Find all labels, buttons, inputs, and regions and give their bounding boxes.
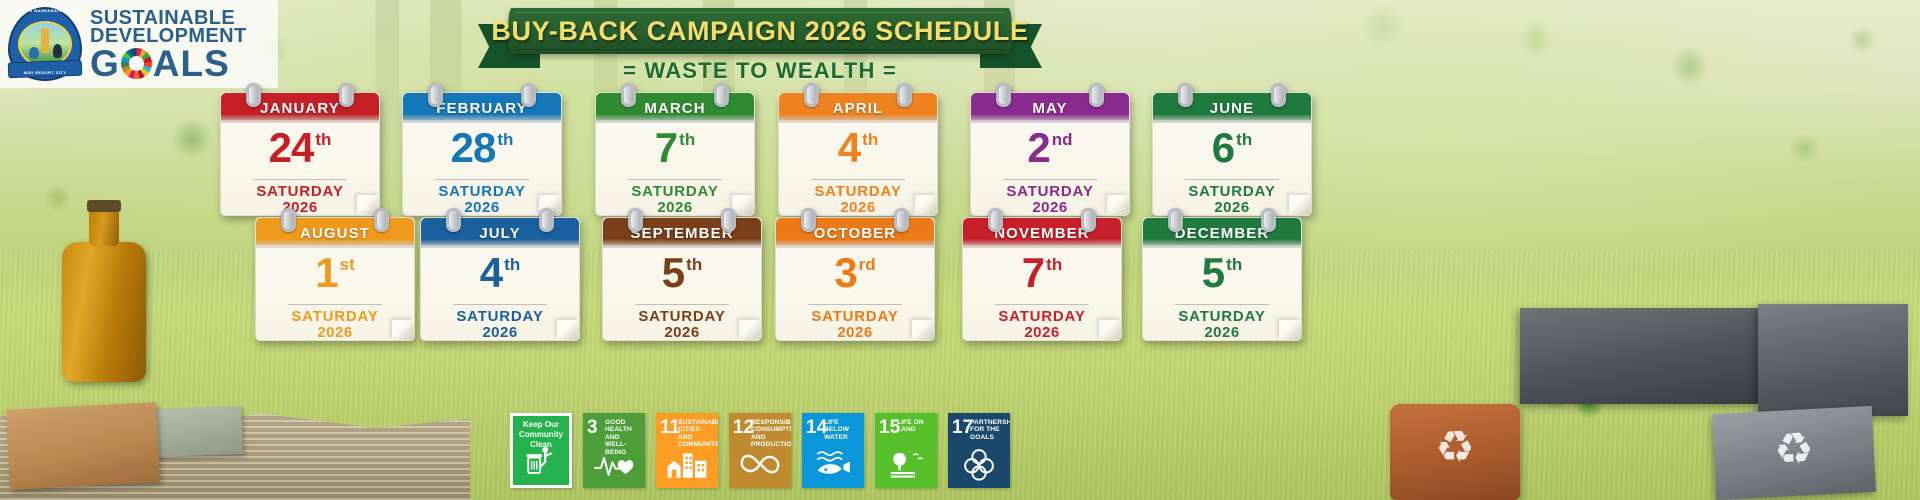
calendar-year-label: 2026	[256, 324, 414, 341]
calendar-day-number: 7	[655, 127, 677, 169]
sdg-badge-label: PARTNERSHIPS FOR THE GOALS	[970, 419, 1007, 441]
recycling-plate-prop: ♻	[1712, 406, 1876, 500]
page-curl	[1289, 195, 1311, 215]
page-curl	[739, 320, 761, 340]
sdg-goals-right-text: ALS	[153, 46, 230, 81]
recycle-symbol-icon: ♻	[1435, 426, 1474, 470]
calendar-day-row: 5th	[1143, 252, 1301, 300]
binder-ring-right-icon	[521, 83, 536, 107]
calendar-month-header: SEPTEMBER	[603, 218, 761, 248]
calendar-day-number: 5	[1202, 252, 1224, 294]
calendar-day-row: 2nd	[971, 127, 1129, 175]
sdg-badge-goal-12[interactable]: 12RESPONSIBLE CONSUMPTION AND PRODUCTION	[729, 413, 791, 488]
calendar-day-row: 4th	[779, 127, 937, 175]
binder-ring-right-icon	[1261, 208, 1276, 232]
binder-ring-left-icon	[804, 83, 819, 107]
calendar-month-header: MAY	[971, 93, 1129, 123]
page-curl	[915, 195, 937, 215]
logo-plate: MAJLIS BANDARAYA MIRI MIRI RESORT CITY S…	[0, 0, 278, 88]
calendar-month-label: FEBRUARY	[436, 100, 528, 117]
calendar-month-header: APRIL	[779, 93, 937, 123]
binder-ring-right-icon	[714, 83, 729, 107]
calendar-day-row: 4th	[421, 252, 579, 300]
calendar-day-suffix: th	[504, 256, 520, 273]
calendar-day-row: 7th	[963, 252, 1121, 300]
calendar-day-number: 24	[269, 127, 314, 169]
calendar-weekday-label: SATURDAY	[1143, 308, 1301, 325]
calendar-divider	[811, 179, 905, 180]
page-curl	[557, 320, 579, 340]
calendar-card-may[interactable]: MAY2ndSATURDAY2026	[970, 92, 1130, 216]
calendar-body: DECEMBER5thSATURDAY2026	[1142, 217, 1302, 341]
calendar-day-number: 5	[662, 252, 684, 294]
binder-ring-left-icon	[246, 83, 261, 107]
calendar-divider	[288, 304, 382, 305]
calendar-card-july[interactable]: JULY4thSATURDAY2026	[420, 217, 580, 341]
calendar-year-label: 2026	[603, 324, 761, 341]
glass-bottle-prop	[62, 242, 146, 382]
binder-ring-right-icon	[1271, 83, 1286, 107]
calendar-month-label: AUGUST	[300, 225, 370, 242]
calendar-card-february[interactable]: FEBRUARY28thSATURDAY2026	[402, 92, 562, 216]
person-throwing-trash-icon	[513, 441, 569, 481]
calendar-body: MAY2ndSATURDAY2026	[970, 92, 1130, 216]
calendar-weekday-label: SATURDAY	[776, 308, 934, 325]
calendar-body: JUNE6thSATURDAY2026	[1152, 92, 1312, 216]
binder-ring-left-icon	[1178, 83, 1193, 107]
metal-bin-secondary-prop	[1758, 304, 1908, 416]
campaign-title: BUY-BACK CAMPAIGN 2026 SCHEDULE	[491, 16, 1028, 47]
binder-ring-right-icon	[721, 208, 736, 232]
calendar-month-header: AUGUST	[256, 218, 414, 248]
calendar-card-september[interactable]: SEPTEMBER5thSATURDAY2026	[602, 217, 762, 341]
crest-bottom-text: MIRI RESORT CITY	[6, 70, 84, 75]
calendar-day-suffix: th	[1046, 256, 1062, 273]
calendar-day-number: 6	[1212, 127, 1234, 169]
calendar-body: NOVEMBER7thSATURDAY2026	[962, 217, 1122, 341]
binder-ring-left-icon	[628, 208, 643, 232]
cardboard-box-prop	[6, 402, 160, 490]
calendar-weekday-label: SATURDAY	[596, 183, 754, 200]
calendar-body: APRIL4thSATURDAY2026	[778, 92, 938, 216]
calendar-card-march[interactable]: MARCH7thSATURDAY2026	[595, 92, 755, 216]
calendar-day-suffix: th	[1226, 256, 1242, 273]
binder-ring-left-icon	[996, 83, 1011, 107]
calendar-divider	[995, 304, 1089, 305]
campaign-subtitle: = WASTE TO WEALTH =	[480, 58, 1040, 84]
calendar-day-number: 2	[1027, 127, 1049, 169]
sdg-color-wheel-icon	[121, 48, 152, 79]
calendar-day-number: 4	[838, 127, 860, 169]
binder-ring-right-icon	[894, 208, 909, 232]
crest-majlis-bandaraya-miri-icon: MAJLIS BANDARAYA MIRI MIRI RESORT CITY	[6, 5, 84, 83]
calendar-month-header: FEBRUARY	[403, 93, 561, 123]
page-curl	[1107, 195, 1129, 215]
binder-ring-left-icon	[621, 83, 636, 107]
calendar-card-october[interactable]: OCTOBER3rdSATURDAY2026	[775, 217, 935, 341]
fish-waves-icon	[802, 444, 864, 484]
calendar-body: SEPTEMBER5thSATURDAY2026	[602, 217, 762, 341]
calendar-month-label: JULY	[479, 225, 520, 242]
interlocking-circles-icon	[948, 444, 1010, 484]
calendar-day-number: 3	[834, 252, 856, 294]
city-buildings-icon	[656, 444, 718, 484]
calendar-day-row: 24th	[221, 127, 379, 175]
sdg-goals-left-text: G	[90, 46, 120, 81]
page-curl	[1279, 320, 1301, 340]
sdg-badge-goal-3[interactable]: 3GOOD HEALTH AND WELL-BEING	[583, 413, 645, 488]
sdg-badge-goal-11[interactable]: 11SUSTAINABLE CITIES AND COMMUNITIES	[656, 413, 718, 488]
recycle-symbol-icon: ♻	[1773, 427, 1815, 473]
calendar-month-label: DECEMBER	[1175, 225, 1270, 242]
calendar-month-label: NOVEMBER	[994, 225, 1089, 242]
calendar-body: FEBRUARY28thSATURDAY2026	[402, 92, 562, 216]
binder-ring-right-icon	[897, 83, 912, 107]
page-curl	[912, 320, 934, 340]
calendar-weekday-label: SATURDAY	[421, 308, 579, 325]
calendar-day-number: 1	[315, 252, 337, 294]
calendar-divider	[808, 304, 902, 305]
calendar-body: MARCH7thSATURDAY2026	[595, 92, 755, 216]
page-curl	[1099, 320, 1121, 340]
sdg-badge-label: LIFE BELOW WATER	[824, 419, 861, 441]
calendar-month-label: MARCH	[644, 100, 705, 117]
calendar-day-suffix: th	[686, 256, 702, 273]
calendar-divider	[1185, 179, 1279, 180]
calendar-divider	[628, 179, 722, 180]
binder-ring-right-icon	[1089, 83, 1104, 107]
calendar-weekday-label: SATURDAY	[221, 183, 379, 200]
binder-ring-right-icon	[1081, 208, 1096, 232]
calendar-month-label: JUNE	[1210, 100, 1254, 117]
calendar-day-row: 6th	[1153, 127, 1311, 175]
calendar-day-number: 7	[1022, 252, 1044, 294]
calendar-divider	[1003, 179, 1097, 180]
sdg-badge-goal-15[interactable]: 15LIFE ON LAND	[875, 413, 937, 488]
calendar-day-suffix: th	[315, 131, 331, 148]
binder-ring-left-icon	[988, 208, 1003, 232]
calendar-day-row: 1st	[256, 252, 414, 300]
calendar-divider	[635, 304, 729, 305]
calendar-year-label: 2026	[221, 199, 379, 216]
calendar-day-suffix: st	[340, 256, 355, 273]
calendar-card-december[interactable]: DECEMBER5thSATURDAY2026	[1142, 217, 1302, 341]
sdg-badge-goal-14[interactable]: 14LIFE BELOW WATER	[802, 413, 864, 488]
calendar-day-row: 28th	[403, 127, 561, 175]
calendar-divider	[453, 304, 547, 305]
calendar-weekday-label: SATURDAY	[603, 308, 761, 325]
binder-ring-left-icon	[281, 208, 296, 232]
calendar-month-header: JANUARY	[221, 93, 379, 123]
calendar-weekday-label: SATURDAY	[779, 183, 937, 200]
calendar-month-label: JANUARY	[260, 100, 340, 117]
calendar-month-header: NOVEMBER	[963, 218, 1121, 248]
calendar-body: OCTOBER3rdSATURDAY2026	[775, 217, 935, 341]
calendar-weekday-label: SATURDAY	[963, 308, 1121, 325]
title-ribbon: BUY-BACK CAMPAIGN 2026 SCHEDULE	[480, 4, 1040, 60]
calendar-day-row: 7th	[596, 127, 754, 175]
calendar-weekday-label: SATURDAY	[1153, 183, 1311, 200]
calendar-month-label: OCTOBER	[814, 225, 896, 242]
calendar-card-november[interactable]: NOVEMBER7thSATURDAY2026	[962, 217, 1122, 341]
calendar-body: JANUARY24thSATURDAY2026	[220, 92, 380, 216]
infinity-icon	[729, 444, 791, 484]
calendar-day-number: 28	[451, 127, 496, 169]
sdg-wordmark: SUSTAINABLE DEVELOPMENT G ALS	[90, 7, 247, 81]
calendar-day-suffix: th	[862, 131, 878, 148]
calendar-weekday-label: SATURDAY	[403, 183, 561, 200]
calendar-day-suffix: th	[497, 131, 513, 148]
calendar-divider	[253, 179, 347, 180]
calendar-weekday-label: SATURDAY	[971, 183, 1129, 200]
binder-ring-right-icon	[339, 83, 354, 107]
calendar-body: AUGUST1stSATURDAY2026	[255, 217, 415, 341]
calendar-year-label: 2026	[421, 324, 579, 341]
calendar-day-suffix: nd	[1052, 131, 1073, 148]
ribbon-band: BUY-BACK CAMPAIGN 2026 SCHEDULE	[508, 8, 1012, 54]
calendar-divider	[1175, 304, 1269, 305]
tree-birds-icon	[875, 444, 937, 484]
calendar-month-header: DECEMBER	[1143, 218, 1301, 248]
sdg-badge-number: 3	[587, 418, 598, 437]
calendar-month-header: MARCH	[596, 93, 754, 123]
calendar-card-august[interactable]: AUGUST1stSATURDAY2026	[255, 217, 415, 341]
calendar-card-april[interactable]: APRIL4thSATURDAY2026	[778, 92, 938, 216]
page-curl	[392, 320, 414, 340]
calendar-day-number: 4	[480, 252, 502, 294]
calendar-year-label: 2026	[403, 199, 561, 216]
calendar-month-header: JULY	[421, 218, 579, 248]
sdg-badge-keep-community-clean[interactable]: Keep Our Community Clean	[510, 413, 572, 488]
calendar-card-june[interactable]: JUNE6thSATURDAY2026	[1152, 92, 1312, 216]
sdg-badge-label: LIFE ON LAND	[897, 419, 934, 434]
binder-ring-left-icon	[428, 83, 443, 107]
calendar-day-row: 3rd	[776, 252, 934, 300]
calendar-month-header: OCTOBER	[776, 218, 934, 248]
clay-pot-prop: ♻	[1390, 404, 1520, 500]
heartbeat-icon	[583, 444, 645, 484]
calendar-body: JULY4thSATURDAY2026	[420, 217, 580, 341]
calendar-month-label: MAY	[1032, 100, 1067, 117]
calendar-year-label: 2026	[776, 324, 934, 341]
sdg-badge-goal-17[interactable]: 17PARTNERSHIPS FOR THE GOALS	[948, 413, 1010, 488]
binder-ring-left-icon	[801, 208, 816, 232]
calendar-weekday-label: SATURDAY	[256, 308, 414, 325]
calendar-month-header: JUNE	[1153, 93, 1311, 123]
crest-top-text: MAJLIS BANDARAYA MIRI	[6, 8, 84, 13]
binder-ring-right-icon	[539, 208, 554, 232]
calendar-day-suffix: th	[1236, 131, 1252, 148]
sdg-badge-strip: Keep Our Community Clean3GOOD HEALTH AND…	[510, 413, 1010, 488]
binder-ring-left-icon	[446, 208, 461, 232]
calendar-month-label: SEPTEMBER	[630, 225, 733, 242]
calendar-day-suffix: th	[679, 131, 695, 148]
metal-bin-prop	[1520, 308, 1760, 404]
calendar-year-label: 2026	[1143, 324, 1301, 341]
calendar-day-row: 5th	[603, 252, 761, 300]
calendar-day-suffix: rd	[859, 256, 876, 273]
calendar-divider	[435, 179, 529, 180]
calendar-card-january[interactable]: JANUARY24thSATURDAY2026	[220, 92, 380, 216]
binder-ring-left-icon	[1168, 208, 1183, 232]
binder-ring-right-icon	[374, 208, 389, 232]
calendar-month-label: APRIL	[833, 100, 884, 117]
calendar-year-label: 2026	[963, 324, 1121, 341]
